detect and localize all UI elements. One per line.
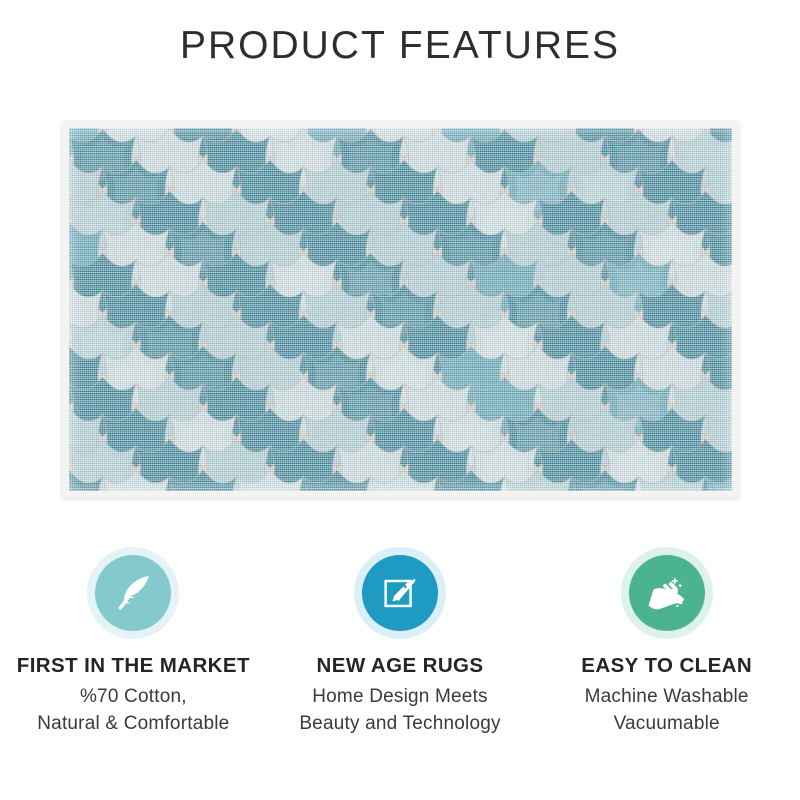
rug-pattern-area: [69, 128, 732, 491]
cleaning-hand-sparkle-icon: [629, 555, 705, 631]
feature-icon-badge: [352, 545, 448, 641]
feather-icon: [95, 555, 171, 631]
feature-title: FIRST IN THE MARKET: [17, 654, 250, 678]
feature-item-first-in-the-market: FIRST IN THE MARKET %70 Cotton, Natural …: [0, 545, 267, 738]
feature-line: Home Design Meets: [312, 684, 488, 711]
page-title: PRODUCT FEATURES: [0, 24, 800, 68]
rug-quatrefoil-svg: [69, 128, 732, 491]
rug-product-image: [62, 121, 739, 498]
feature-title: NEW AGE RUGS: [317, 654, 484, 678]
feature-icon-badge: [85, 545, 181, 641]
feature-title: EASY TO CLEAN: [581, 654, 752, 678]
feature-line: Vacuumable: [614, 711, 720, 738]
design-pen-pencil-icon: [362, 555, 438, 631]
feature-line: Machine Washable: [585, 684, 749, 711]
feature-line: Beauty and Technology: [299, 711, 500, 738]
feature-icon-badge: [619, 545, 715, 641]
feature-item-easy-to-clean: EASY TO CLEAN Machine Washable Vacuumabl…: [533, 545, 800, 738]
product-features-page: PRODUCT FEATURES: [0, 0, 800, 800]
feature-item-new-age-rugs: NEW AGE RUGS Home Design Meets Beauty an…: [267, 545, 534, 738]
feature-list: FIRST IN THE MARKET %70 Cotton, Natural …: [0, 545, 800, 738]
feature-line: %70 Cotton,: [80, 684, 187, 711]
feature-line: Natural & Comfortable: [37, 711, 229, 738]
